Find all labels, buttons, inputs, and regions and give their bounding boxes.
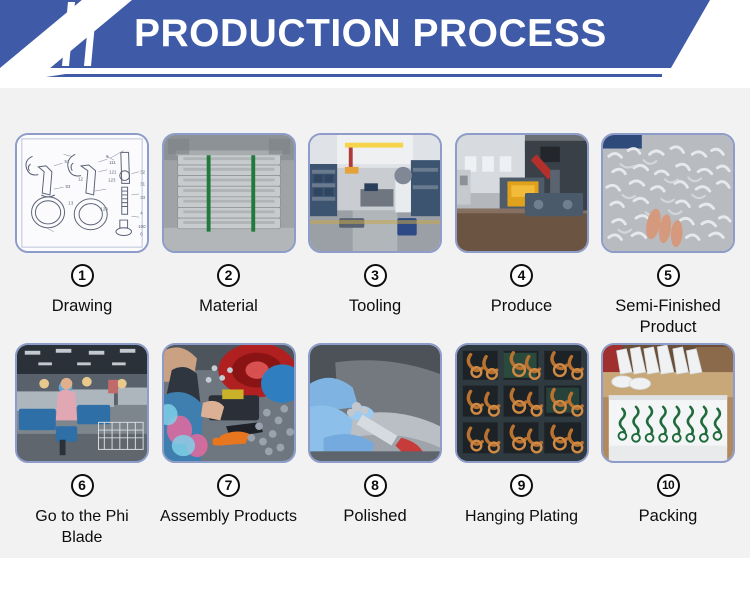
- step-thumbnail-material[interactable]: [162, 133, 296, 253]
- svg-text:123: 123: [108, 177, 116, 182]
- step-thumbnail-packing[interactable]: [601, 343, 735, 463]
- footer-spacer: [0, 558, 750, 595]
- step-card[interactable]: 5153 5111 121123 1213 120 3231 334 1006 …: [14, 133, 150, 338]
- svg-text:51: 51: [65, 159, 70, 164]
- steps-row-first: 5153 5111 121123 1213 120 3231 334 1006 …: [0, 133, 750, 338]
- step-label: Polished: [302, 506, 448, 527]
- svg-text:13: 13: [68, 201, 73, 206]
- step-label: Drawing: [9, 296, 155, 317]
- step-number-badge: 2: [217, 264, 240, 287]
- step-thumbnail-hanging-plating[interactable]: [455, 343, 589, 463]
- step-card[interactable]: 5 Semi-Finished Product: [600, 133, 736, 338]
- steps-row-second: 6 Go to the Phi Blade: [0, 343, 750, 548]
- production-process-infographic: PRODUCTION PROCESS: [0, 0, 750, 595]
- svg-text:31: 31: [140, 181, 145, 186]
- steps-container: 5153 5111 121123 1213 120 3231 334 1006 …: [0, 88, 750, 558]
- step-card[interactable]: 7 Assembly Products: [161, 343, 297, 548]
- step-number-badge: 8: [364, 474, 387, 497]
- svg-text:120: 120: [100, 206, 108, 211]
- step-number-badge: 4: [510, 264, 533, 287]
- svg-text:53: 53: [66, 184, 71, 189]
- step-thumbnail-drawing[interactable]: 5153 5111 121123 1213 120 3231 334 1006: [15, 133, 149, 253]
- step-number-badge: 1: [71, 264, 94, 287]
- step-label: Assembly Products: [153, 506, 305, 527]
- step-number-badge: 3: [364, 264, 387, 287]
- svg-text:100: 100: [138, 224, 146, 229]
- step-label: Material: [156, 296, 302, 317]
- step-thumbnail-phi-blade[interactable]: [15, 343, 149, 463]
- banner-underline-rule: [46, 74, 662, 77]
- header-banner: PRODUCTION PROCESS: [0, 0, 750, 88]
- step-label: Tooling: [302, 296, 448, 317]
- step-card[interactable]: 4 Produce: [454, 133, 590, 338]
- step-label: Packing: [595, 506, 741, 527]
- step-number-badge: 9: [510, 474, 533, 497]
- step-thumbnail-polished[interactable]: [308, 343, 442, 463]
- page-title: PRODUCTION PROCESS: [134, 8, 607, 60]
- step-label: Hanging Plating: [446, 506, 598, 527]
- svg-text:111: 111: [109, 160, 116, 165]
- step-thumbnail-semi-finished[interactable]: [601, 133, 735, 253]
- step-card[interactable]: 6 Go to the Phi Blade: [14, 343, 150, 548]
- svg-text:121: 121: [109, 170, 117, 175]
- svg-text:32: 32: [140, 170, 145, 175]
- step-number-badge: 6: [71, 474, 94, 497]
- step-card[interactable]: 3 Tooling: [307, 133, 443, 338]
- step-label: Produce: [449, 296, 595, 317]
- step-thumbnail-produce[interactable]: [455, 133, 589, 253]
- step-label: Go to the Phi Blade: [6, 506, 158, 548]
- step-card[interactable]: 2 Material: [161, 133, 297, 338]
- step-thumbnail-tooling[interactable]: [308, 133, 442, 253]
- step-number-badge: 10: [657, 474, 680, 497]
- step-card[interactable]: 10 Packing: [600, 343, 736, 548]
- step-number-badge: 5: [657, 264, 680, 287]
- svg-text:12: 12: [78, 176, 83, 181]
- step-number-badge: 7: [217, 474, 240, 497]
- step-card[interactable]: 8 Polished: [307, 343, 443, 548]
- step-card[interactable]: 9 Hanging Plating: [454, 343, 590, 548]
- step-label: Semi-Finished Product: [595, 296, 741, 338]
- step-thumbnail-assembly[interactable]: [162, 343, 296, 463]
- svg-text:33: 33: [140, 195, 145, 200]
